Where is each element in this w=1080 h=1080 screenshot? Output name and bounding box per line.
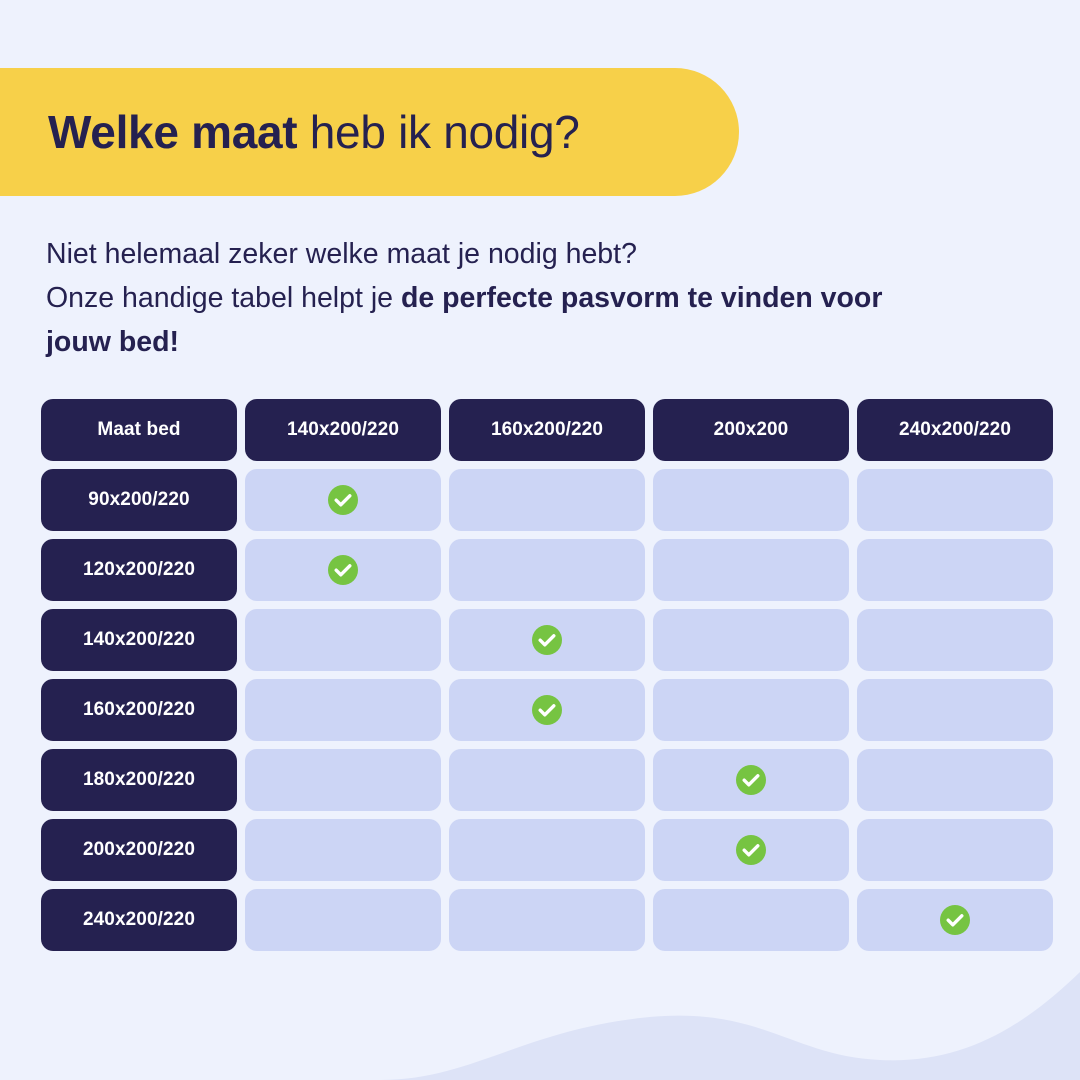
row-header-label: 140x200/220	[83, 629, 195, 651]
cell-r3-c4	[857, 609, 1053, 671]
intro-paragraph: Niet helemaal zeker welke maat je nodig …	[46, 232, 926, 364]
table-row: 160x200/220	[41, 679, 1040, 741]
row-header-label: 240x200/220	[83, 909, 195, 931]
cell-r6-c2	[449, 819, 645, 881]
bottom-wave-decoration	[0, 960, 1080, 1080]
cell-r1-c2	[449, 469, 645, 531]
header-banner: Welke maat heb ik nodig?	[0, 68, 739, 196]
check-circle-icon	[736, 765, 766, 795]
row-header-label: 200x200/220	[83, 839, 195, 861]
cell-r1-c1	[245, 469, 441, 531]
cell-r4-c3	[653, 679, 849, 741]
column-header-label: Maat bed	[97, 419, 180, 441]
column-header-3: 200x200	[653, 399, 849, 461]
cell-r4-c1	[245, 679, 441, 741]
cell-r2-c2	[449, 539, 645, 601]
cell-r5-c2	[449, 749, 645, 811]
cell-r4-c2	[449, 679, 645, 741]
check-circle-icon	[736, 835, 766, 865]
table-row: 90x200/220	[41, 469, 1040, 531]
row-header-180x200/220: 180x200/220	[41, 749, 237, 811]
column-header-1: 140x200/220	[245, 399, 441, 461]
row-header-140x200/220: 140x200/220	[41, 609, 237, 671]
intro-line-2-regular: Onze handige tabel helpt je	[46, 282, 401, 314]
column-header-label: 200x200	[714, 419, 789, 441]
cell-r3-c3	[653, 609, 849, 671]
cell-r5-c3	[653, 749, 849, 811]
cell-r1-c3	[653, 469, 849, 531]
cell-r2-c4	[857, 539, 1053, 601]
cell-r1-c4	[857, 469, 1053, 531]
row-header-90x200/220: 90x200/220	[41, 469, 237, 531]
table-header-row: Maat bed 140x200/220 160x200/220 200x200…	[41, 399, 1040, 461]
cell-r2-c3	[653, 539, 849, 601]
row-header-120x200/220: 120x200/220	[41, 539, 237, 601]
cell-r3-c2	[449, 609, 645, 671]
cell-r7-c3	[653, 889, 849, 951]
cell-r7-c1	[245, 889, 441, 951]
column-header-4: 240x200/220	[857, 399, 1053, 461]
column-header-2: 160x200/220	[449, 399, 645, 461]
check-circle-icon	[532, 625, 562, 655]
page-title: Welke maat heb ik nodig?	[48, 109, 580, 155]
row-header-200x200/220: 200x200/220	[41, 819, 237, 881]
row-header-label: 160x200/220	[83, 699, 195, 721]
column-header-label: 160x200/220	[491, 419, 603, 441]
check-circle-icon	[532, 695, 562, 725]
cell-r7-c4	[857, 889, 1053, 951]
cell-r2-c1	[245, 539, 441, 601]
cell-r5-c1	[245, 749, 441, 811]
cell-r6-c3	[653, 819, 849, 881]
column-header-label: 140x200/220	[287, 419, 399, 441]
table-body: 90x200/220120x200/220140x200/220160x200/…	[41, 469, 1040, 951]
cell-r7-c2	[449, 889, 645, 951]
table-row: 240x200/220	[41, 889, 1040, 951]
check-circle-icon	[940, 905, 970, 935]
cell-r6-c4	[857, 819, 1053, 881]
cell-r6-c1	[245, 819, 441, 881]
table-row: 140x200/220	[41, 609, 1040, 671]
table-row: 120x200/220	[41, 539, 1040, 601]
row-header-label: 180x200/220	[83, 769, 195, 791]
size-comparison-table: Maat bed 140x200/220 160x200/220 200x200…	[41, 399, 1040, 951]
table-row: 180x200/220	[41, 749, 1040, 811]
check-circle-icon	[328, 555, 358, 585]
cell-r3-c1	[245, 609, 441, 671]
column-header-maat-bed: Maat bed	[41, 399, 237, 461]
row-header-160x200/220: 160x200/220	[41, 679, 237, 741]
check-circle-icon	[328, 485, 358, 515]
column-header-label: 240x200/220	[899, 419, 1011, 441]
table-row: 200x200/220	[41, 819, 1040, 881]
page-title-bold: Welke maat	[48, 106, 297, 158]
row-header-label: 120x200/220	[83, 559, 195, 581]
row-header-label: 90x200/220	[88, 489, 189, 511]
row-header-240x200/220: 240x200/220	[41, 889, 237, 951]
page-title-regular: heb ik nodig?	[297, 106, 579, 158]
cell-r4-c4	[857, 679, 1053, 741]
intro-line-1: Niet helemaal zeker welke maat je nodig …	[46, 238, 637, 270]
cell-r5-c4	[857, 749, 1053, 811]
